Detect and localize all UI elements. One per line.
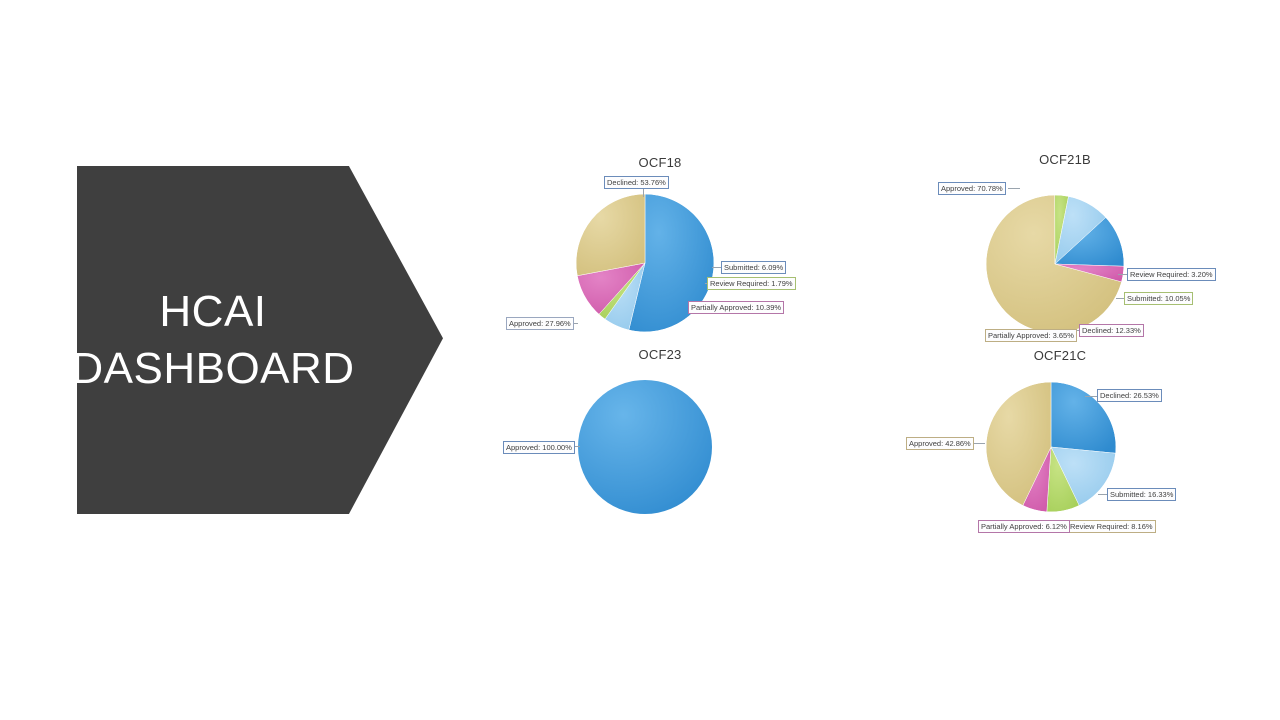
data-label-partially-approved[interactable]: Partially Approved: 6.12% bbox=[978, 520, 1070, 533]
leader-line bbox=[1085, 396, 1097, 397]
data-label-approved[interactable]: Approved: 100.00% bbox=[503, 441, 575, 454]
chart-title-ocf21b: OCF21B bbox=[900, 152, 1230, 167]
chart-title-ocf21c: OCF21C bbox=[895, 348, 1225, 363]
chart-title-ocf23: OCF23 bbox=[500, 347, 820, 362]
data-label-submitted[interactable]: Submitted: 6.09% bbox=[721, 261, 786, 274]
pie-svg-ocf21b bbox=[985, 194, 1125, 334]
slice-approved bbox=[576, 194, 645, 276]
chart-ocf21b[interactable]: OCF21B bbox=[900, 152, 1230, 352]
data-label-partially-approved[interactable]: Partially Approved: 10.39% bbox=[688, 301, 784, 314]
data-label-review-required[interactable]: Review Required: 1.79% bbox=[707, 277, 796, 290]
data-label-submitted[interactable]: Submitted: 10.05% bbox=[1124, 292, 1193, 305]
chart-ocf21c[interactable]: OCF21C bbox=[895, 348, 1225, 543]
chart-ocf23[interactable]: OCF23 Approved: 100.00% bbox=[500, 347, 820, 522]
pie-ocf23 bbox=[577, 379, 713, 515]
title-block: HCAI DASHBOARD bbox=[77, 166, 443, 514]
data-label-review-required[interactable]: Review Required: 8.16% bbox=[1067, 520, 1156, 533]
pie-ocf21b bbox=[985, 194, 1125, 334]
data-label-approved[interactable]: Approved: 27.96% bbox=[506, 317, 574, 330]
leader-line bbox=[973, 443, 985, 444]
data-label-submitted[interactable]: Submitted: 16.33% bbox=[1107, 488, 1176, 501]
chart-title-ocf18: OCF18 bbox=[500, 155, 820, 170]
data-label-review-required[interactable]: Review Required: 3.20% bbox=[1127, 268, 1216, 281]
slide-canvas: HCAI DASHBOARD OCF18 bbox=[0, 0, 1280, 720]
data-label-declined[interactable]: Declined: 53.76% bbox=[604, 176, 669, 189]
data-label-approved[interactable]: Approved: 70.78% bbox=[938, 182, 1006, 195]
data-label-partially-approved[interactable]: Partially Approved: 3.65% bbox=[985, 329, 1077, 342]
page-title: HCAI DASHBOARD bbox=[77, 166, 349, 514]
pie-svg-ocf23 bbox=[577, 379, 713, 515]
chart-ocf18[interactable]: OCF18 bbox=[500, 155, 820, 350]
page-title-line-1: HCAI bbox=[159, 283, 266, 340]
slice-approved bbox=[578, 380, 712, 514]
data-label-declined[interactable]: Declined: 12.33% bbox=[1079, 324, 1144, 337]
page-title-line-2: DASHBOARD bbox=[71, 340, 354, 397]
data-label-declined[interactable]: Declined: 26.53% bbox=[1097, 389, 1162, 402]
data-label-approved[interactable]: Approved: 42.86% bbox=[906, 437, 974, 450]
leader-line bbox=[1008, 188, 1020, 189]
